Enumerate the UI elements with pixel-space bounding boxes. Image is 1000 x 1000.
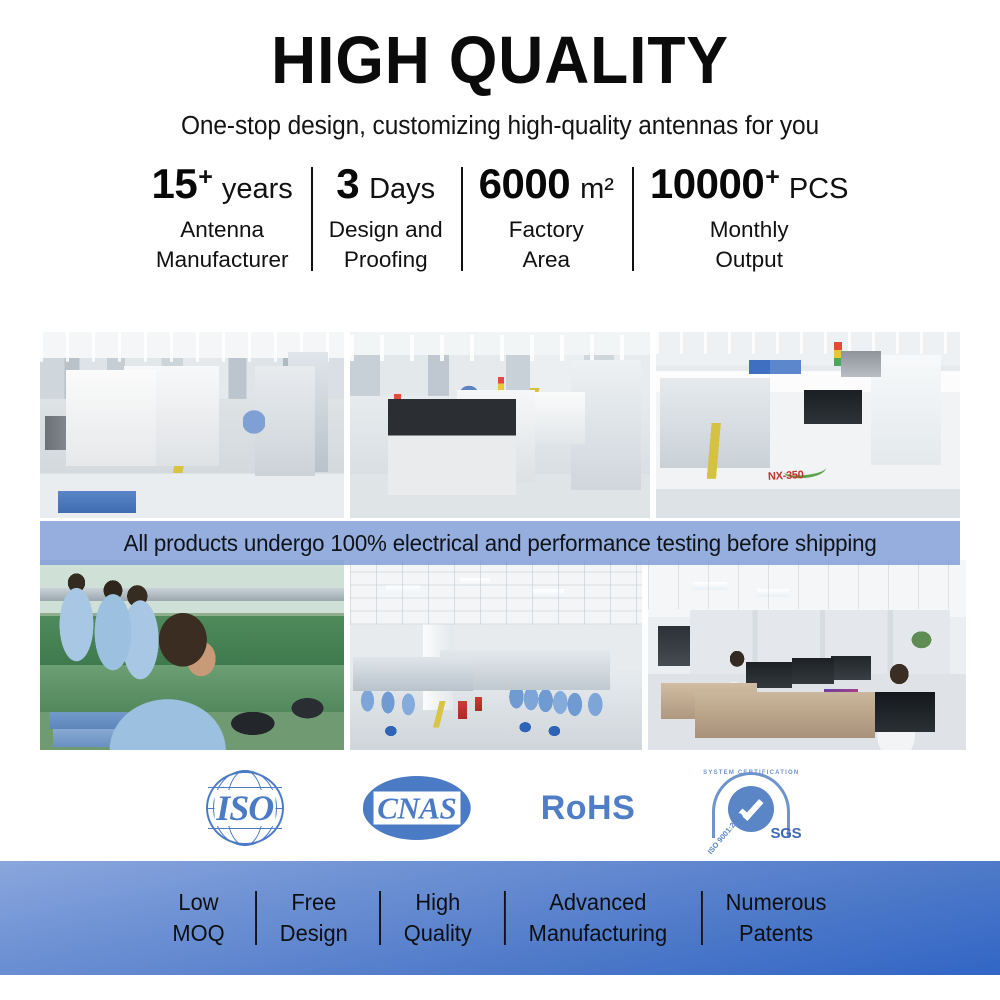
cnas-certification-logo: CNAS: [357, 770, 477, 846]
stat-value: 6000 m²: [479, 163, 614, 209]
stat-label: Factory Area: [509, 215, 584, 274]
certification-logos-row: ISO CNAS RoHS SYSTEM CERTIFICATION ISO 9…: [0, 756, 1000, 860]
stat-label: Antenna Manufacturer: [156, 215, 289, 274]
feature-item-low-moq: Low MOQ: [148, 887, 250, 949]
stats-row: 15 + years Antenna Manufacturer 3 Days D…: [0, 163, 1000, 275]
stat-unit: m²: [580, 175, 614, 204]
stat-value: 3 Days: [336, 163, 435, 209]
photo-office-area: [648, 560, 966, 750]
stat-unit: years: [222, 175, 293, 204]
stat-plus-superscript: +: [765, 165, 780, 190]
testing-banner-text: All products undergo 100% electrical and…: [124, 530, 877, 557]
rohs-certification-logo: RoHS: [541, 789, 636, 828]
header-section: HIGH QUALITY One-stop design, customizin…: [0, 0, 1000, 141]
feature-item-advanced-manufacturing: Advanced Manufacturing: [504, 887, 692, 949]
photo-assembly-workers: [40, 560, 344, 750]
stat-value: 10000 + PCS: [650, 163, 849, 209]
sgs-logo-text: SGS: [771, 825, 802, 842]
page-subtitle: One-stop design, customizing high-qualit…: [20, 112, 980, 141]
stat-number: 10000: [650, 163, 764, 205]
cnas-logo-text: CNAS: [373, 792, 460, 825]
photo-smt-line-2: [350, 332, 650, 518]
stat-item-area: 6000 m² Factory Area: [461, 163, 632, 275]
feature-item-numerous-patents: Numerous Patents: [701, 887, 851, 949]
stat-unit: PCS: [789, 175, 849, 204]
features-bottom-bar: Low MOQ Free Design High Quality Advance…: [0, 861, 1000, 975]
iso-certification-logo: ISO: [197, 769, 293, 847]
feature-item-high-quality: High Quality: [379, 887, 496, 949]
photo-wave-solder-machine: NX-350: [656, 332, 960, 518]
stat-label: Design and Proofing: [329, 215, 443, 274]
page-title: HIGH QUALITY: [35, 26, 965, 96]
factory-photo-grid-bottom: [40, 560, 960, 750]
iso-logo-text: ISO: [214, 790, 275, 826]
stat-unit: Days: [369, 175, 435, 204]
stat-number: 6000: [479, 163, 570, 205]
stat-number: 3: [336, 163, 359, 205]
stat-item-years: 15 + years Antenna Manufacturer: [134, 163, 311, 275]
sgs-arc-text: SYSTEM CERTIFICATION: [703, 770, 799, 776]
stat-plus-superscript: +: [198, 165, 213, 190]
machine-swoosh-graphic: [783, 460, 826, 480]
photo-production-hall: [350, 560, 642, 750]
stat-number: 15: [152, 163, 198, 205]
stat-value: 15 + years: [152, 163, 293, 209]
stat-item-days: 3 Days Design and Proofing: [311, 163, 461, 275]
stat-item-output: 10000 + PCS Monthly Output: [632, 163, 867, 275]
photo-smt-line-1: [40, 332, 344, 518]
feature-item-free-design: Free Design: [255, 887, 372, 949]
machine-model-label: NX-350: [768, 469, 804, 483]
stat-label: Monthly Output: [710, 215, 789, 274]
product-detail-page: HIGH QUALITY One-stop design, customizin…: [0, 0, 1000, 1000]
testing-banner: All products undergo 100% electrical and…: [40, 521, 960, 565]
sgs-certification-logo: SYSTEM CERTIFICATION ISO 9001:2000 SGS: [699, 768, 803, 848]
rohs-logo-text: RoHS: [541, 789, 636, 828]
factory-photo-grid-top: NX-350: [40, 332, 960, 518]
